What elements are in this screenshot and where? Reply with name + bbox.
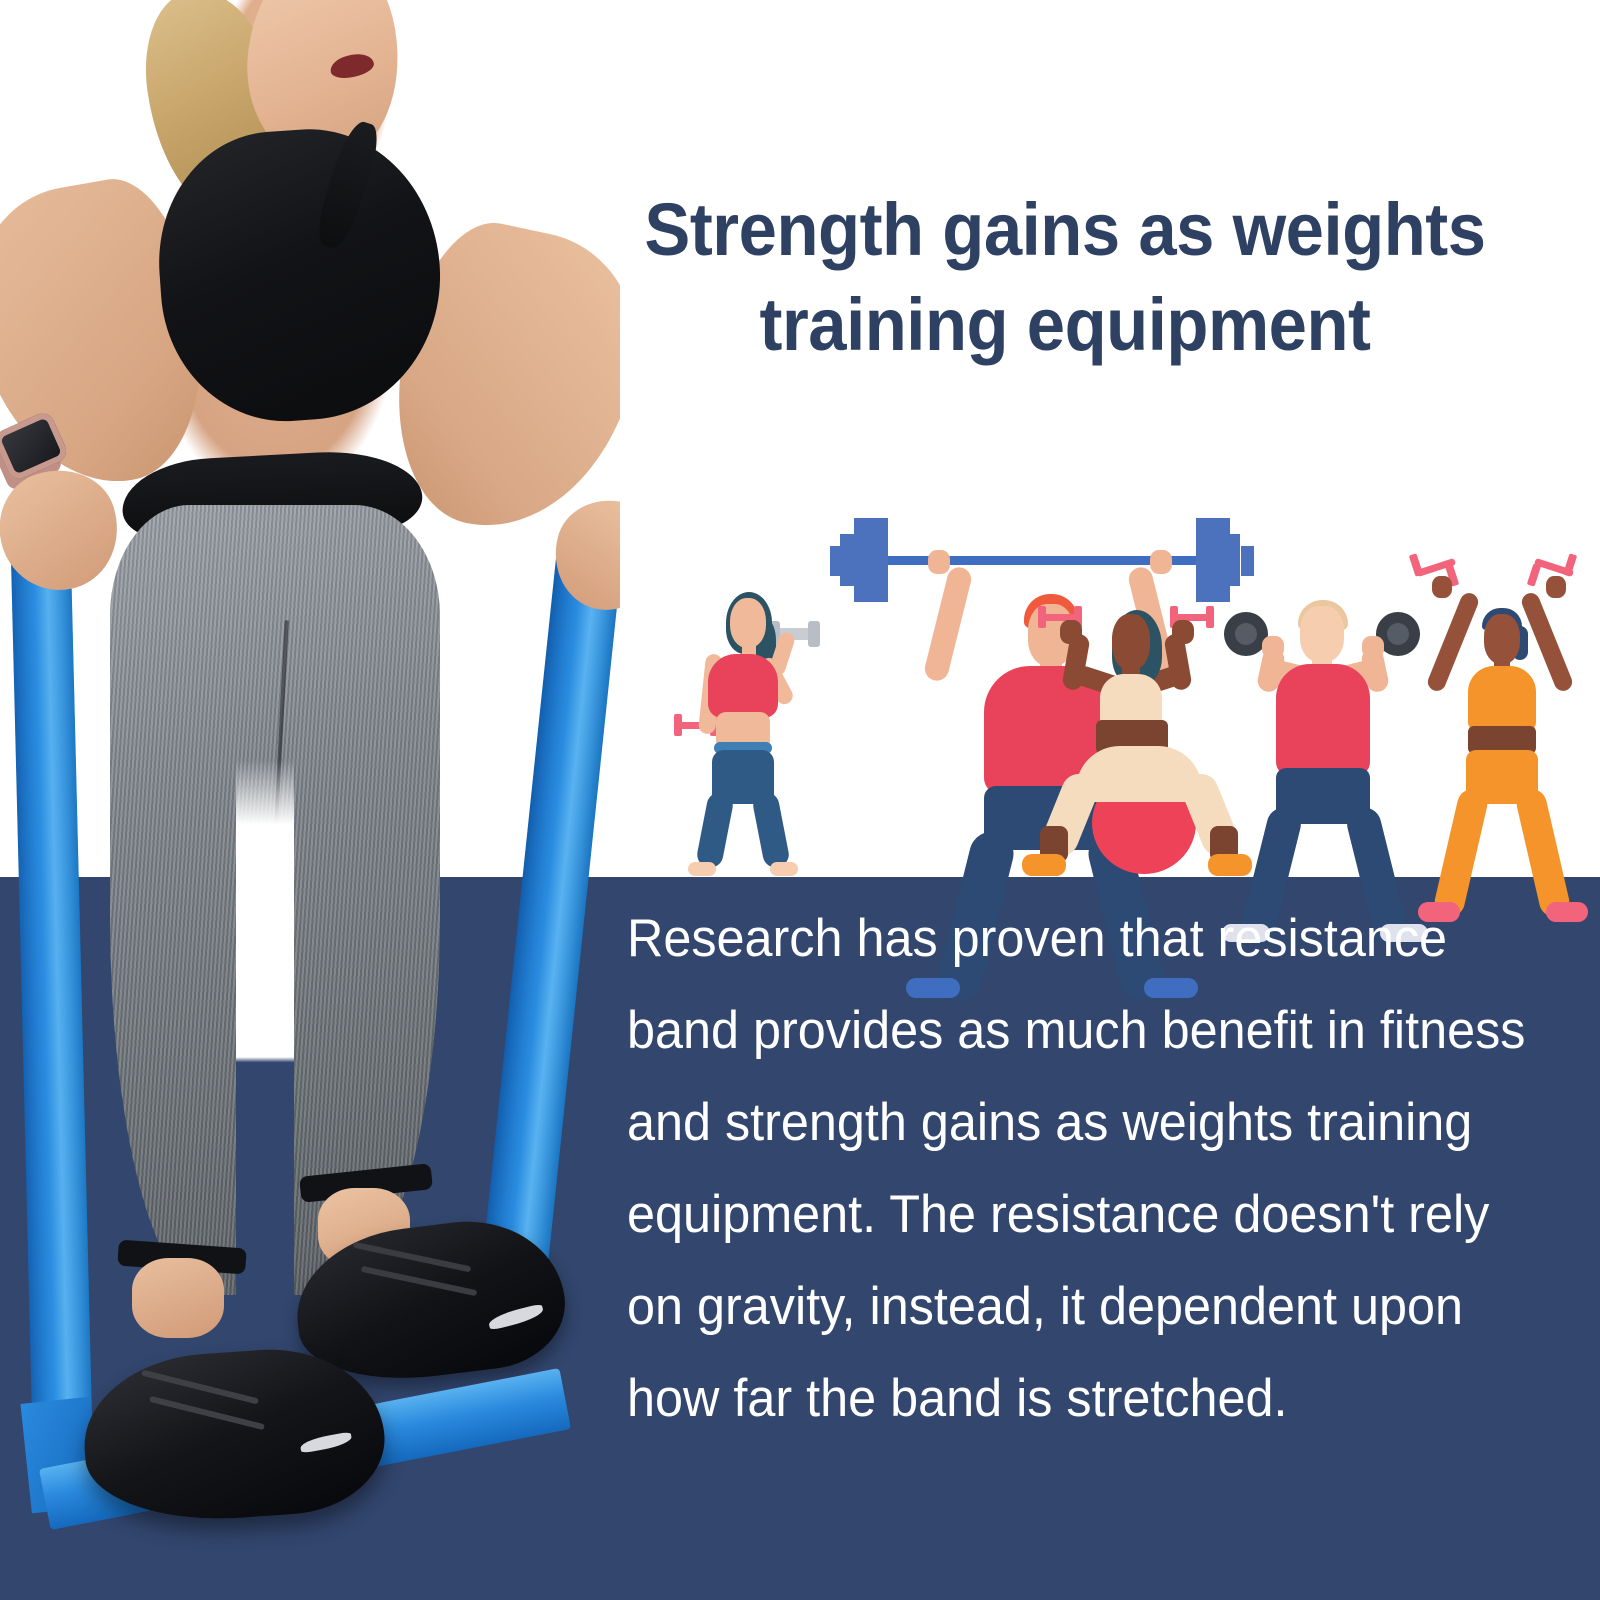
fitness-illustration-strip [660, 500, 1590, 878]
barbell-plate [840, 534, 860, 586]
figure-right-hand [1150, 550, 1172, 574]
figure-top [1276, 664, 1370, 776]
dumbbell-icon [1527, 563, 1541, 586]
model-left-ankle [132, 1258, 224, 1338]
dumbbell-icon [1409, 553, 1423, 576]
figure-left-arm [922, 565, 973, 683]
dumbbell-icon [1038, 606, 1046, 628]
figure-left-shoe [1022, 854, 1066, 876]
figure-top [1468, 666, 1536, 732]
figure-top [708, 654, 778, 718]
figure-man-shoulder-press [1220, 552, 1430, 878]
dumbbell-icon [1206, 606, 1214, 628]
dumbbell-icon [1563, 553, 1577, 576]
figure-woman-overhead-raise [1406, 546, 1596, 878]
page-title: Strength gains as weights training equip… [633, 182, 1498, 372]
figure-right-hand [1546, 576, 1566, 598]
figure-right-shoe [1546, 902, 1588, 922]
marketing-banner: Strength gains as weights training equip… [0, 0, 1600, 1600]
figure-left-hand [928, 550, 950, 574]
figure-left-hand [1432, 576, 1452, 598]
body-paragraph: Research has proven that resistance band… [627, 893, 1539, 1445]
figure-left-foot [688, 862, 716, 876]
product-photo [0, 0, 620, 1600]
figure-left-leg [695, 790, 735, 870]
dumbbell-icon [674, 714, 682, 736]
dumbbell-icon [1235, 623, 1257, 645]
barbell-plate [830, 546, 843, 576]
model-leg-gap [236, 760, 294, 1300]
